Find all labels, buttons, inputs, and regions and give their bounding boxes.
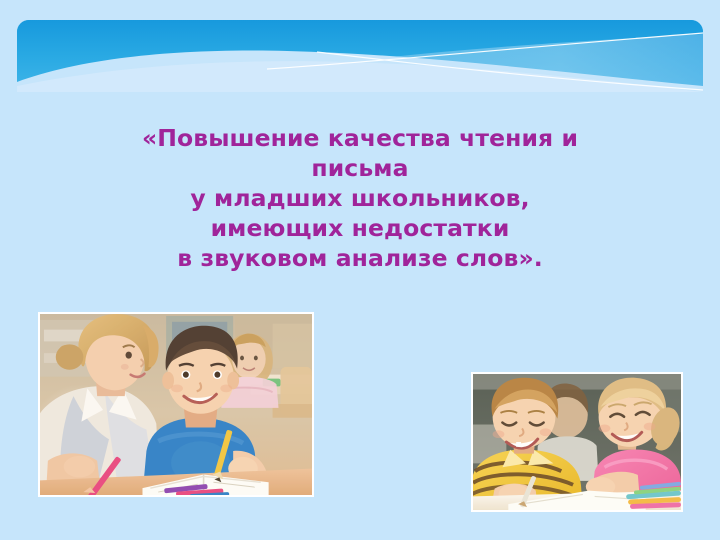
page-title: «Повышение качества чтения и письма у мл… bbox=[120, 123, 600, 273]
title-line-4: имеющих недостатки bbox=[120, 213, 600, 243]
decorative-wave-banner bbox=[17, 20, 703, 92]
photo-two-children-reading-inner bbox=[473, 374, 681, 510]
photo-two-children-image bbox=[473, 374, 681, 510]
photo-teacher-and-boy bbox=[38, 312, 314, 497]
title-line-5: в звуковом анализе слов». bbox=[120, 243, 600, 273]
photo-two-children-reading bbox=[471, 372, 683, 512]
title-line-3: у младших школьников, bbox=[120, 183, 600, 213]
photo-teacher-and-boy-image bbox=[40, 314, 312, 495]
wave-graphic bbox=[17, 20, 703, 92]
slide-root: «Повышение качества чтения и письма у мл… bbox=[0, 0, 720, 540]
title-line-2: письма bbox=[120, 153, 600, 183]
photo-teacher-and-boy-inner bbox=[40, 314, 312, 495]
title-line-1: «Повышение качества чтения и bbox=[120, 123, 600, 153]
